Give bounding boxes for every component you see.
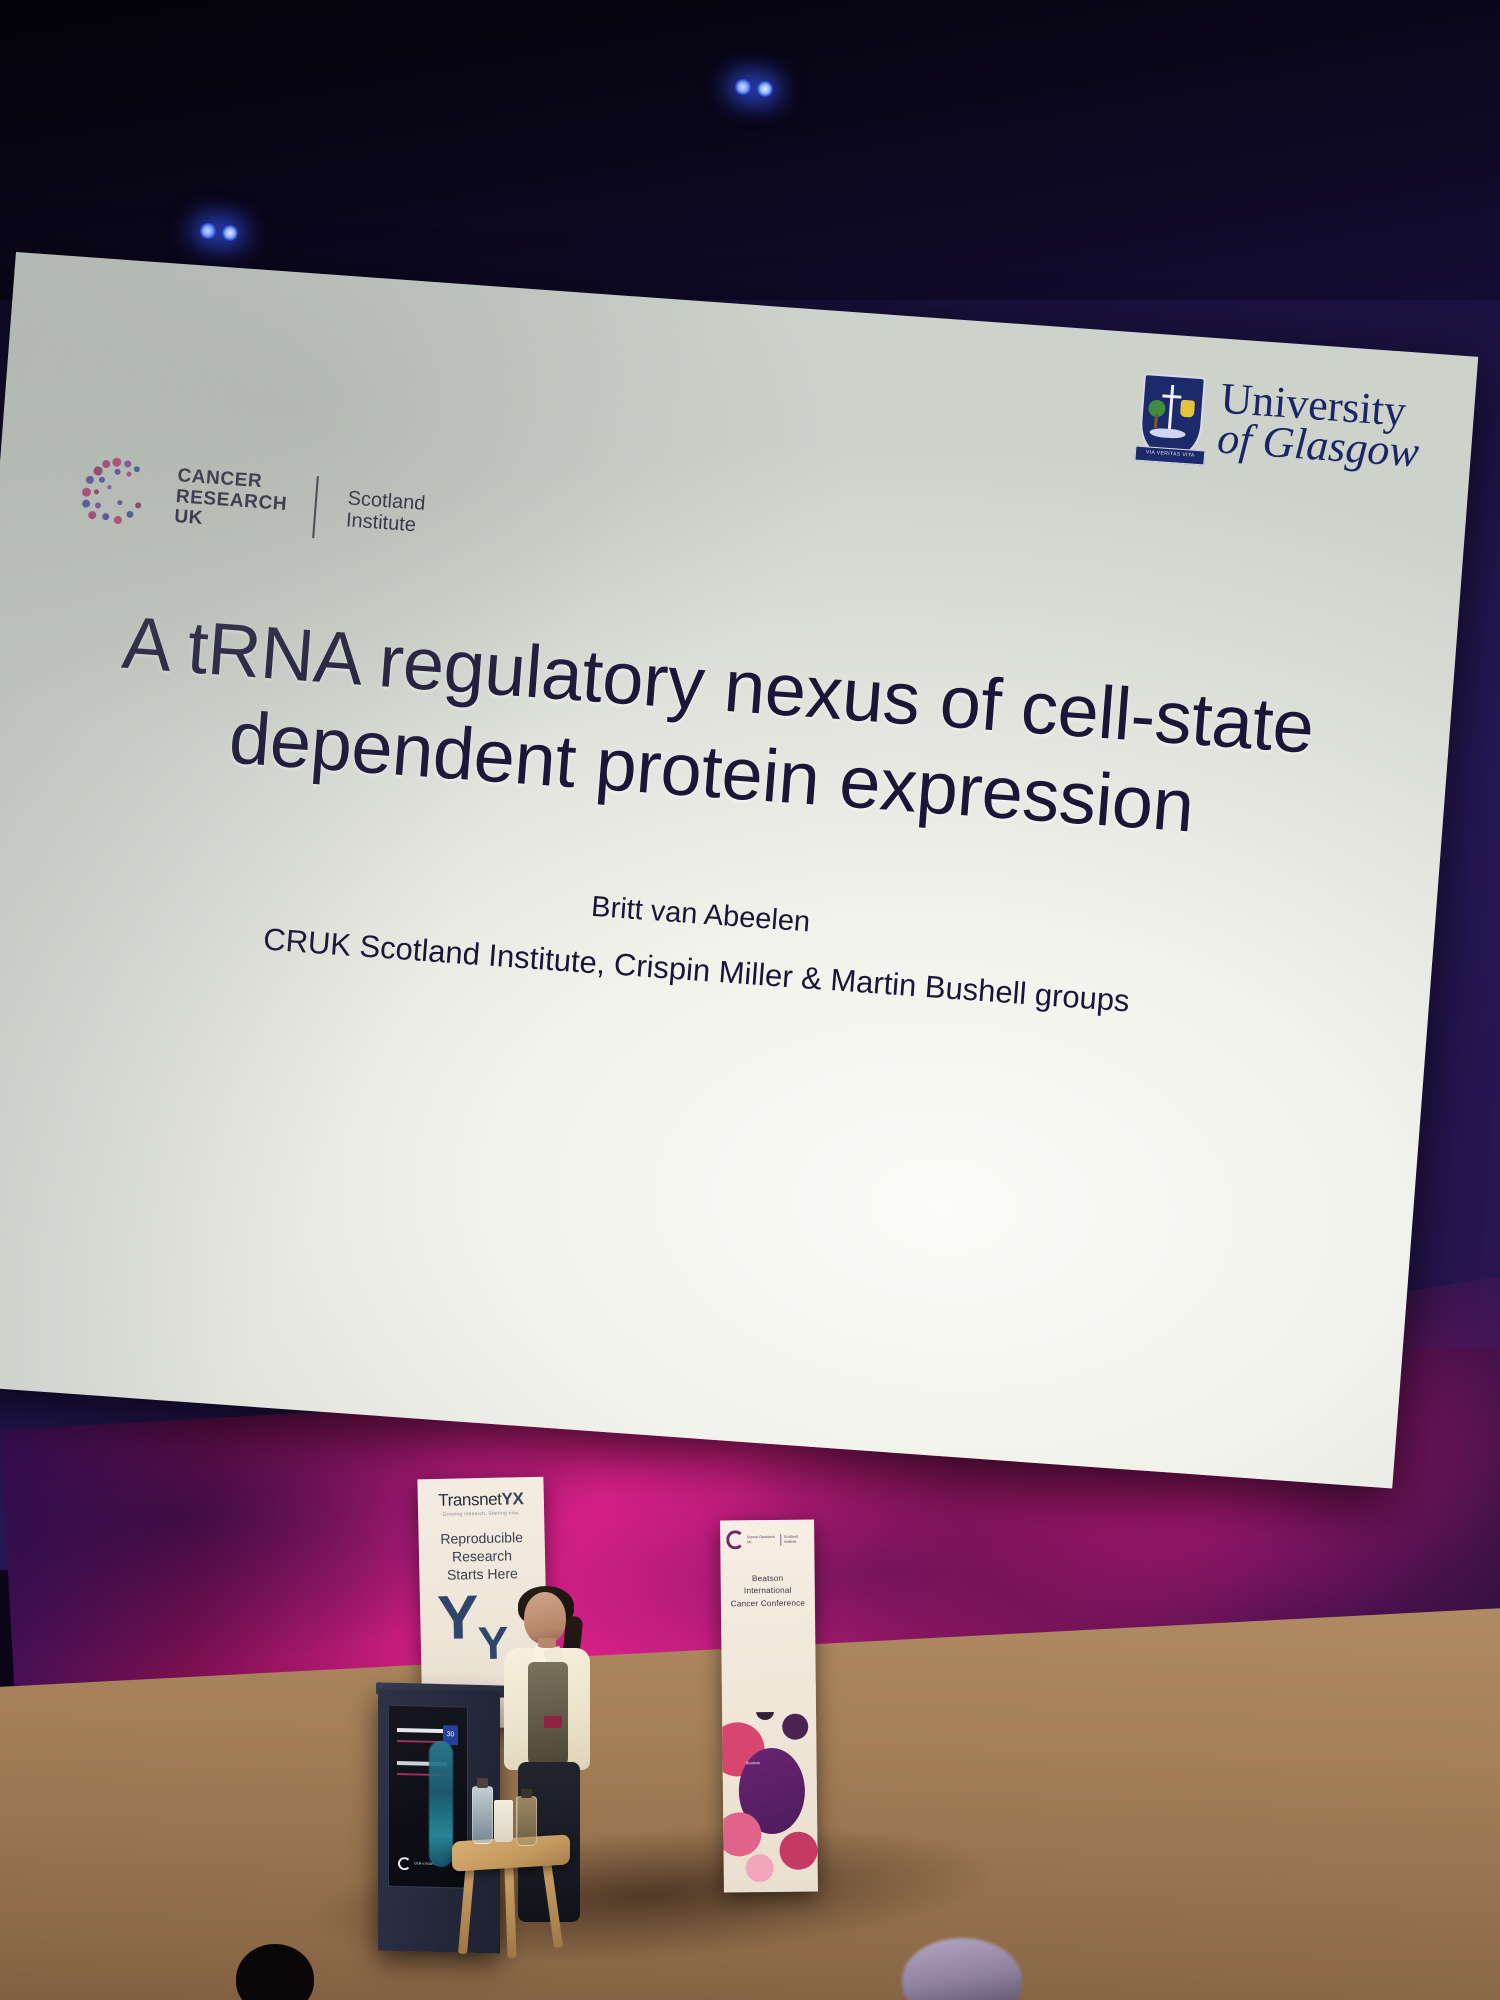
transnetyx-tagline: Growing research. Starting now. xyxy=(426,1510,536,1518)
speaker-lanyard-badge xyxy=(544,1716,562,1728)
beatson-logo-sub: Scotland Institute xyxy=(784,1535,809,1544)
headline-line-1: Reproducible xyxy=(426,1529,536,1549)
blue-spotlight-icon xyxy=(757,80,773,98)
cruk-c-icon xyxy=(726,1530,744,1549)
logo-divider xyxy=(780,1533,781,1545)
glasgow-crest-icon: VIA VERITAS VITA xyxy=(1138,373,1206,459)
cruk-institute-name: Scotland Institute xyxy=(345,487,426,537)
beatson-title-line-2: International xyxy=(727,1585,809,1598)
blue-spotlight-icon xyxy=(222,224,238,242)
water-bottle xyxy=(472,1786,493,1844)
beatson-title: Beatson International Cancer Conference xyxy=(727,1573,809,1611)
institute-line-2: Institute xyxy=(345,509,424,537)
speaker-head xyxy=(524,1592,566,1644)
podium-logo-text: cruk-c-icon xyxy=(414,1861,434,1866)
transnetyx-headline: Reproducible Research Starts Here xyxy=(426,1529,537,1585)
transnetyx-brand-prefix: Transnet xyxy=(438,1490,502,1510)
beatson-title-line-3: Cancer Conference xyxy=(727,1597,809,1610)
cruk-c-dots-icon xyxy=(77,453,156,532)
beatson-cruk-logo: Cancer Research UK Scotland Institute xyxy=(726,1530,808,1550)
presentation-slide: CANCER RESEARCH UK Scotland Institute xyxy=(0,252,1478,1489)
university-of-glasgow-logo: VIA VERITAS VITA University of Glasgow xyxy=(1138,373,1423,475)
podium-cruk-logo: cruk-c-icon xyxy=(398,1857,434,1871)
glasgow-line-2: of Glasgow xyxy=(1216,419,1420,474)
headline-line-2: Research xyxy=(427,1547,537,1567)
beatson-conference-banner: Cancer Research UK Scotland Institute Be… xyxy=(720,1520,818,1893)
glasgow-wordmark: University of Glasgow xyxy=(1216,379,1423,474)
water-bottle xyxy=(516,1796,537,1846)
projection-screen: CANCER RESEARCH UK Scotland Institute xyxy=(0,252,1478,1489)
blue-spotlight-icon xyxy=(735,78,751,96)
beatson-banner-artwork: Beatson xyxy=(722,1712,818,1893)
beatson-logo-text: Cancer Research UK xyxy=(747,1535,777,1544)
logo-divider xyxy=(313,476,320,538)
slide-title: A tRNA regulatory nexus of cell-state de… xyxy=(0,589,1453,868)
beatson-art-caption: Beatson xyxy=(738,1748,804,1767)
beatson-title-line-1: Beatson xyxy=(727,1573,809,1586)
transnetyx-wordmark: TransnetYX xyxy=(426,1489,536,1511)
glasgow-motto: VIA VERITAS VITA xyxy=(1136,447,1205,463)
paper-cup xyxy=(494,1800,513,1842)
dna-helix-icon xyxy=(429,1741,453,1868)
blue-spotlight-icon xyxy=(200,222,216,240)
cruk-c-icon xyxy=(398,1857,411,1870)
speaker-vest xyxy=(528,1662,568,1768)
cruk-wordmark: CANCER RESEARCH UK xyxy=(174,466,290,535)
transnetyx-brand-suffix: YX xyxy=(501,1489,523,1508)
cruk-logo: CANCER RESEARCH UK Scotland Institute xyxy=(77,453,427,551)
photo-scene: CANCER RESEARCH UK Scotland Institute xyxy=(0,0,1500,2000)
